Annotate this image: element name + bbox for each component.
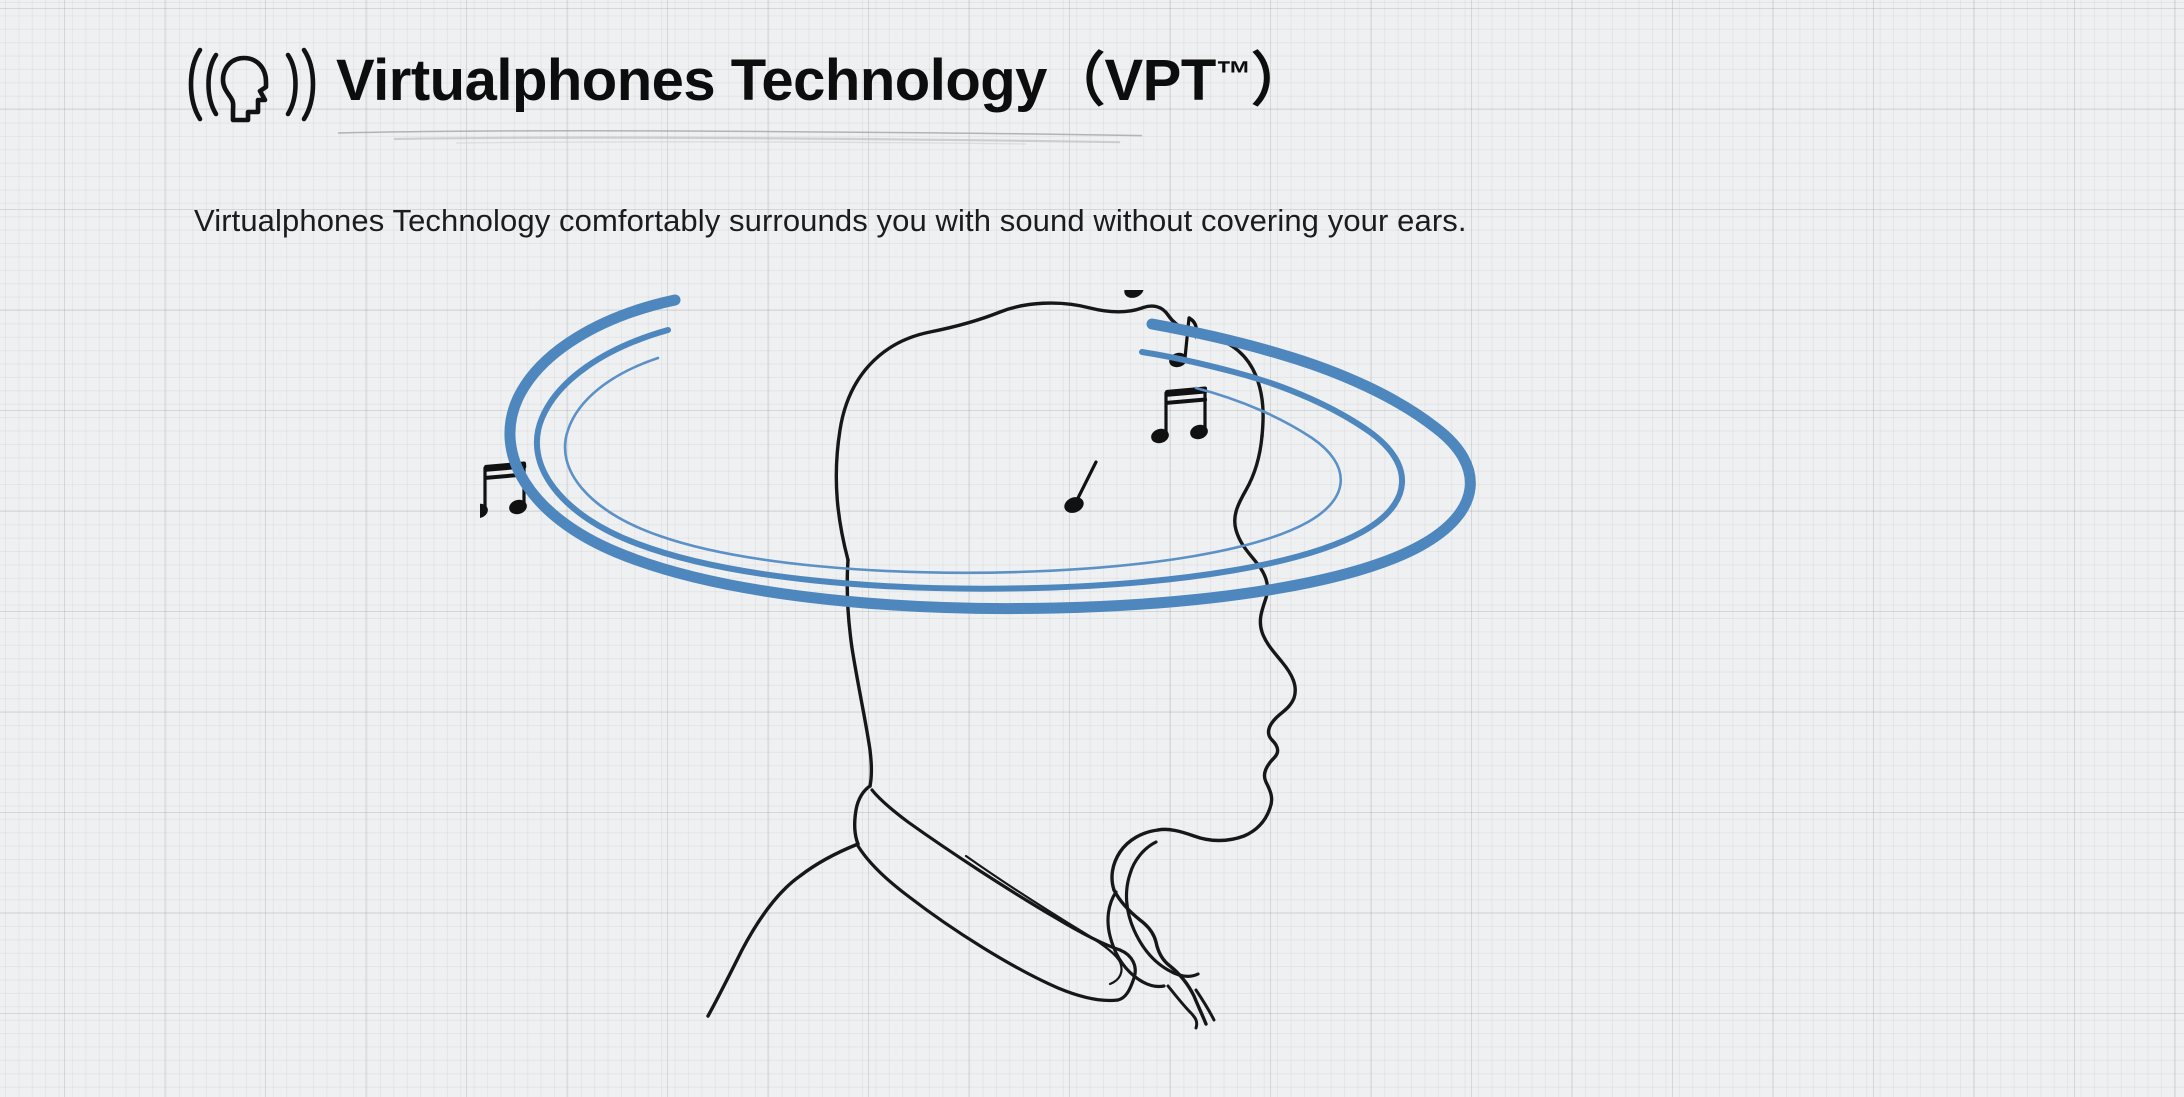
note-beamed-5: [1149, 386, 1209, 445]
page-subtitle: Virtualphones Technology comfortably sur…: [194, 203, 1467, 239]
page-title-paren-open: （: [1047, 48, 1105, 113]
page-title-paren-close: ）: [1251, 48, 1309, 113]
trademark-symbol: ™: [1216, 53, 1252, 94]
head-profile-illustration: [480, 290, 1720, 1030]
ring-middle: [537, 330, 1402, 589]
note-stem-3: [1062, 462, 1096, 516]
head-line-art: [708, 303, 1295, 1028]
ring-inner: [565, 358, 1341, 573]
music-notes-right: [1041, 290, 1209, 516]
hearing-waves-icon: [186, 42, 318, 126]
title-wrap: Virtualphones Technology（VPT™）: [336, 52, 1309, 116]
page-title-main: Virtualphones Technology: [336, 48, 1047, 113]
ring-outer: [510, 300, 1470, 609]
page-title: Virtualphones Technology（VPT™）: [336, 52, 1309, 110]
virtual-sound-ring: [510, 300, 1470, 609]
page-title-abbrev: VPT: [1104, 48, 1215, 113]
title-row: Virtualphones Technology（VPT™）: [186, 45, 1309, 123]
note-stem-2: [1122, 290, 1156, 301]
